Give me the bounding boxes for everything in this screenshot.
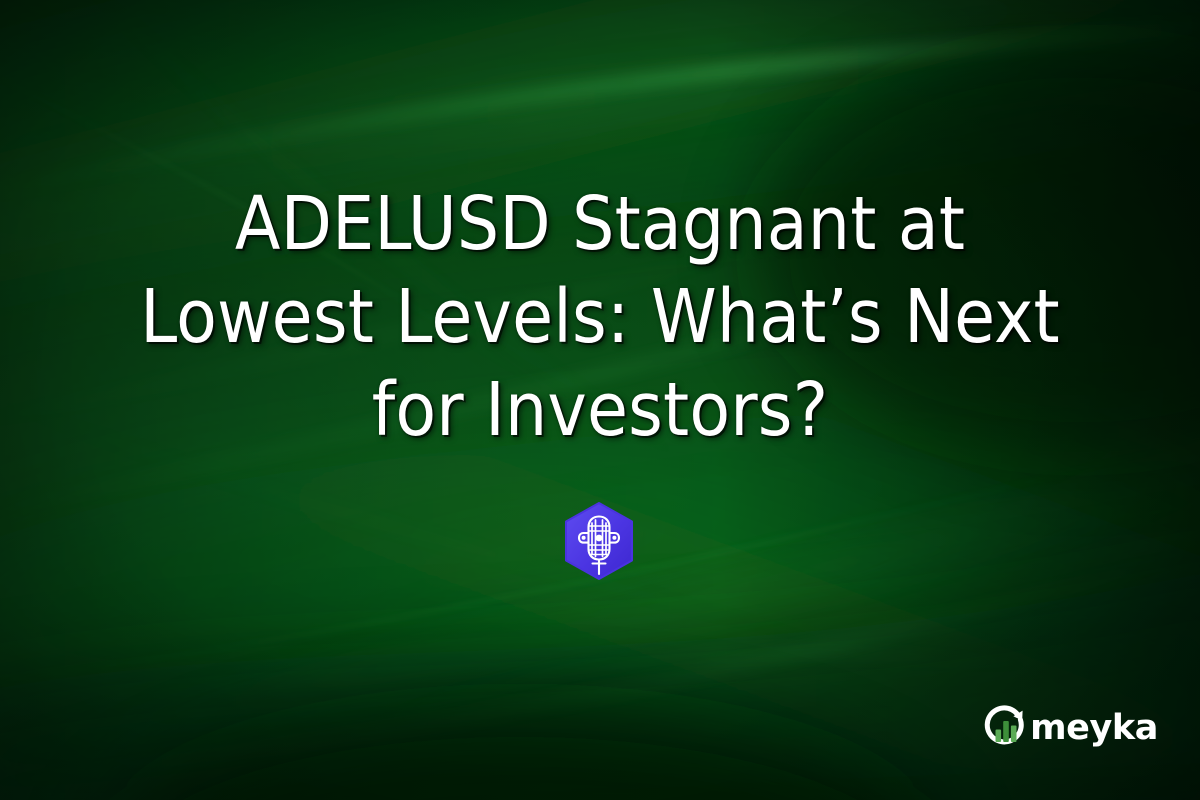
microphone-icon [563,502,635,586]
brand-logo[interactable]: meyka [982,704,1158,752]
podcast-badge [563,502,635,586]
headline-block: ADELUSD Stagnant at Lowest Levels: What’… [0,178,1200,457]
page-title: ADELUSD Stagnant at Lowest Levels: What’… [70,178,1130,457]
article-cover-image: ADELUSD Stagnant at Lowest Levels: What’… [0,0,1200,800]
brand-wordmark: meyka [1030,711,1158,746]
meyka-circle-bars-logo-icon [982,704,1030,752]
